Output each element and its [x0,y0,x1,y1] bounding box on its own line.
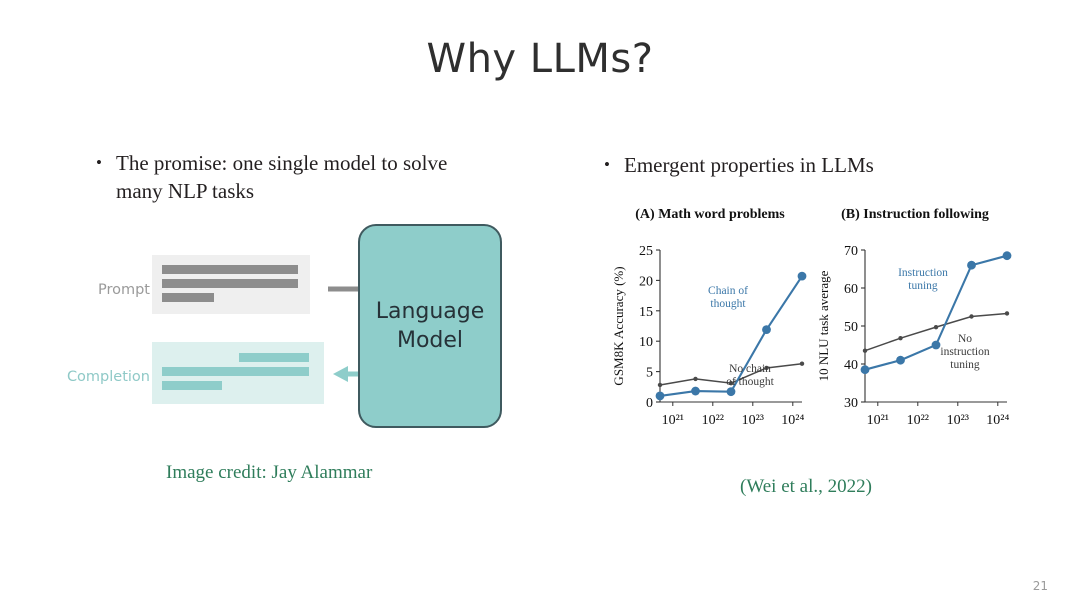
prompt-text-bar [162,293,214,302]
image-credit: Image credit: Jay Alammar [166,462,372,484]
emergent-properties-charts: (A) Math word problems 051015202510²¹10²… [600,206,1030,456]
language-model-line-2: Model [397,326,463,355]
completion-label: Completion [10,369,150,385]
page-number: 21 [1033,579,1048,593]
chart-b-title: (B) Instruction following [815,206,1015,224]
svg-text:10²¹: 10²¹ [662,413,684,428]
svg-text:70: 70 [844,244,858,259]
prompt-text-bar [162,265,298,274]
svg-text:Chain of: Chain of [708,285,748,297]
svg-text:25: 25 [639,244,653,259]
bullet-emergent-properties: Emergent properties in LLMs [604,152,1004,180]
svg-text:10²²: 10²² [907,413,929,428]
svg-text:20: 20 [639,274,653,289]
svg-text:10²³: 10²³ [742,413,764,428]
language-model-box: Language Model [358,224,502,428]
svg-text:of thought: of thought [726,376,774,388]
prompt-text-bar [162,279,298,288]
chart-b-plot: 304050607010²¹10²²10²³10²⁴10 NLU task av… [815,242,1015,452]
svg-text:10 NLU task average: 10 NLU task average [816,270,831,381]
svg-text:50: 50 [844,320,858,335]
completion-text-bar [162,367,309,376]
chart-credit: (Wei et al., 2022) [740,476,872,498]
completion-box [152,342,324,404]
svg-text:Instruction: Instruction [898,267,948,279]
svg-text:GSM8K Accuracy (%): GSM8K Accuracy (%) [611,266,626,385]
language-model-line-1: Language [376,297,485,326]
svg-text:10: 10 [639,335,653,350]
svg-text:5: 5 [646,366,653,381]
chart-a-title: (A) Math word problems [610,206,810,224]
svg-text:10²²: 10²² [702,413,724,428]
svg-text:0: 0 [646,396,653,411]
chart-a-plot: 051015202510²¹10²²10²³10²⁴GSM8K Accuracy… [610,242,810,452]
chart-instruction-following: (B) Instruction following 304050607010²¹… [815,206,1015,456]
prompt-label: Prompt [30,282,150,298]
svg-text:No: No [958,333,972,345]
page-title: Why LLMs? [0,36,1080,82]
svg-text:40: 40 [844,358,858,373]
svg-text:10²⁴: 10²⁴ [781,413,804,428]
bullet-promise: The promise: one single model to solve m… [96,150,486,205]
chart-math-word-problems: (A) Math word problems 051015202510²¹10²… [610,206,810,456]
svg-text:No chain: No chain [729,363,771,375]
slide-canvas: Why LLMs? The promise: one single model … [0,0,1080,607]
svg-text:thought: thought [710,298,746,310]
svg-text:15: 15 [639,305,653,320]
prompt-box [152,255,310,314]
completion-text-bar [162,381,222,390]
svg-text:10²¹: 10²¹ [867,413,889,428]
svg-text:instruction: instruction [940,346,989,358]
svg-text:tuning: tuning [908,280,938,292]
svg-text:30: 30 [844,396,858,411]
svg-text:10²³: 10²³ [947,413,969,428]
completion-text-bar [239,353,309,362]
language-model-diagram: Prompt Completion Language Model [40,222,540,442]
svg-text:60: 60 [844,282,858,297]
svg-text:tuning: tuning [950,359,980,371]
svg-text:10²⁴: 10²⁴ [986,413,1009,428]
